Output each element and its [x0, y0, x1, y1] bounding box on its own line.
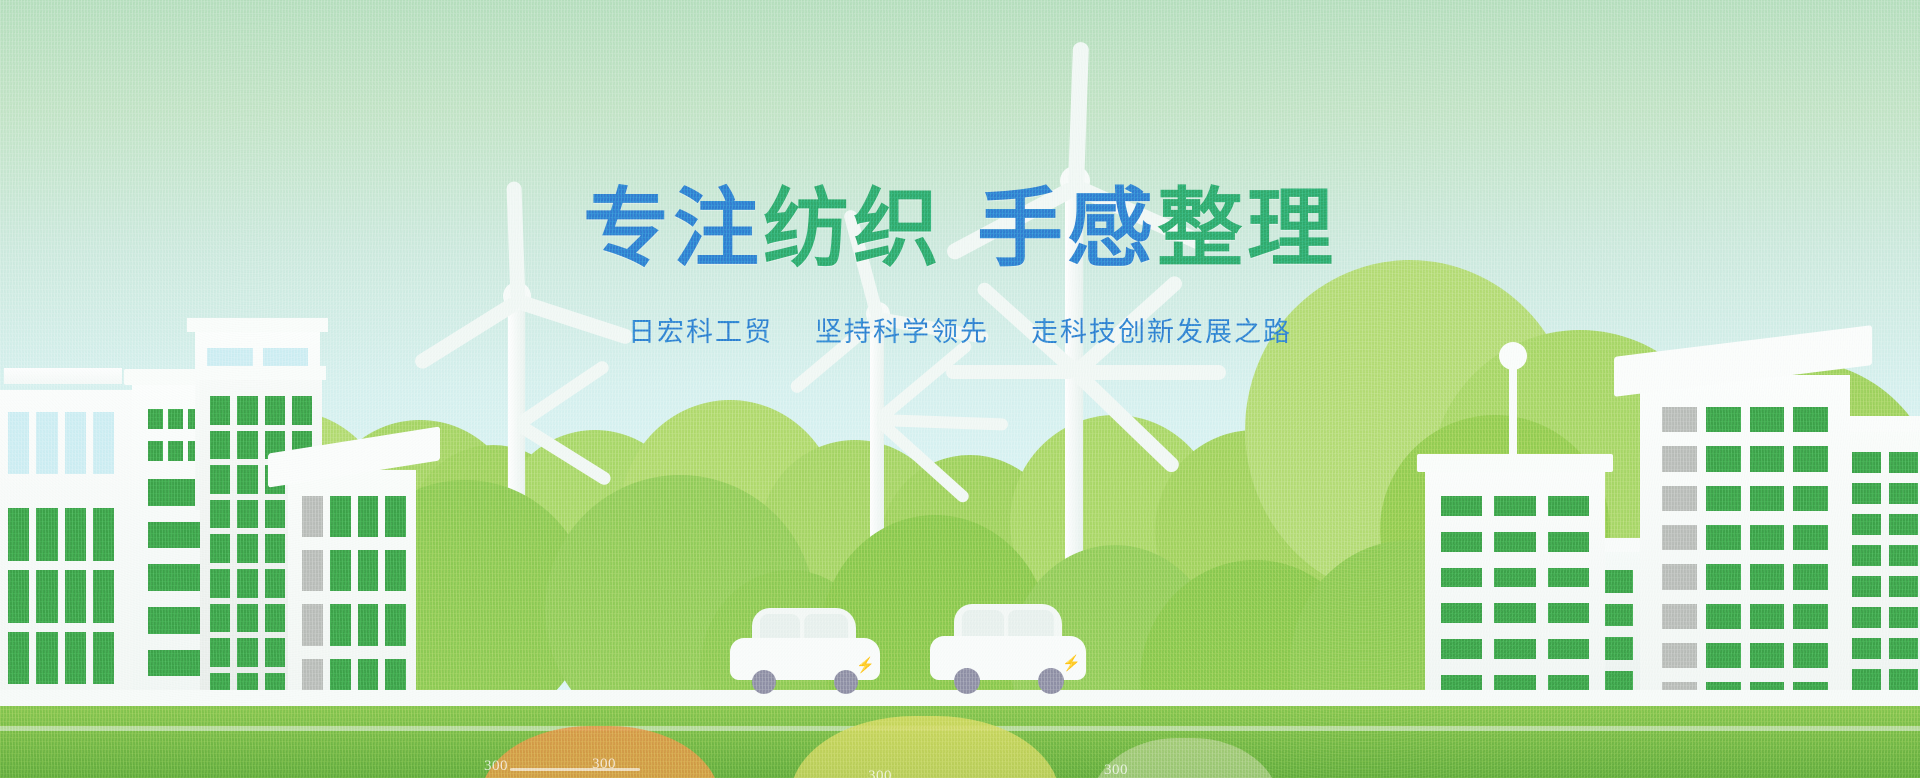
- title-char-1: 专: [583, 186, 673, 272]
- page-subtitle: 日宏科工贸坚持科学领先走科技创新发展之路: [0, 310, 1920, 349]
- title-char-5: 手: [977, 186, 1067, 272]
- subtitle-segment-1: 日宏科工贸: [628, 317, 773, 347]
- beaker-orange-label: 300: [484, 758, 508, 775]
- title-char-4: 织: [853, 186, 943, 272]
- electric-car-left: ⚡: [730, 608, 880, 690]
- title-char-2: 注: [673, 186, 763, 272]
- beaker-yellow-label: 300: [868, 768, 892, 778]
- subtitle-segment-2: 坚持科学领先: [815, 317, 989, 347]
- beaker-green-label: 300: [1104, 762, 1128, 778]
- page-title: 专注纺织手感整理: [0, 186, 1920, 272]
- title-char-7: 整: [1157, 186, 1247, 272]
- title-char-6: 感: [1067, 186, 1157, 272]
- subtitle-segment-3: 走科技创新发展之路: [1031, 317, 1292, 347]
- beaker-orange: 300 300 300 300: [480, 726, 720, 778]
- beaker-yellow-green: 300: [790, 716, 1060, 778]
- hero-text-block: 专注纺织手感整理 日宏科工贸坚持科学领先走科技创新发展之路: [0, 0, 1920, 349]
- beaker-light-green: 300: [1090, 738, 1280, 778]
- hero-banner: ⚡ ⚡ 300 300 300 300 300 300 专注纺织手感整理: [0, 0, 1920, 778]
- electric-car-right: ⚡: [930, 604, 1086, 690]
- title-char-8: 理: [1247, 186, 1337, 272]
- title-char-3: 纺: [763, 186, 853, 272]
